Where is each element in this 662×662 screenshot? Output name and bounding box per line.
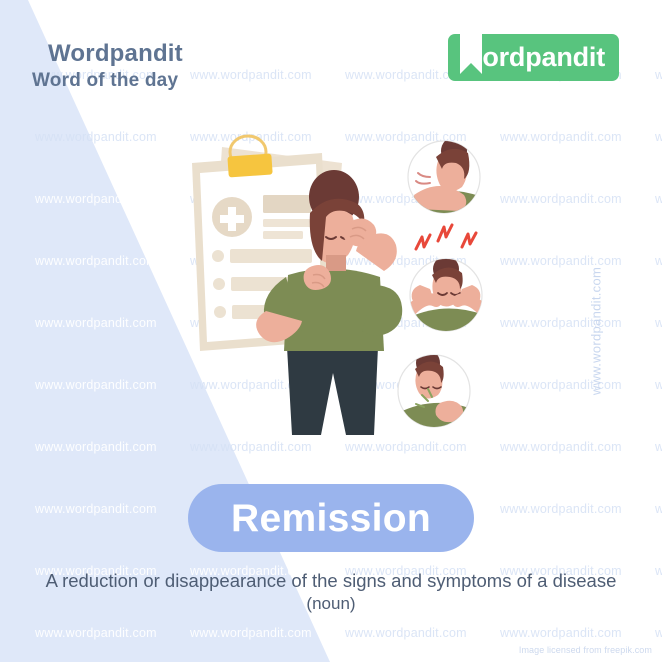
- watermark-text: www.wordpandit.com: [35, 626, 157, 640]
- word-pill: Remission: [188, 484, 474, 552]
- definition-text: A reduction or disappearance of the sign…: [0, 568, 662, 594]
- vertical-watermark: www.wordpandit.com: [588, 267, 603, 395]
- word-of-the-day-card: www.wordpandit.comwww.wordpandit.comwww.…: [0, 0, 662, 662]
- watermark-text: www.wordpandit.com: [35, 440, 157, 454]
- image-credit: Image licensed from freepik.com: [519, 645, 652, 655]
- itching-icon: [394, 350, 484, 439]
- illustration-remission: [170, 125, 500, 445]
- watermark-text: www.wordpandit.com: [35, 254, 157, 268]
- watermark-text: www.wordpandit.com: [35, 316, 157, 330]
- brand-title: Wordpandit: [48, 40, 183, 68]
- word-of-the-day: Remission: [231, 499, 431, 538]
- brand-subtitle: Word of the day: [32, 70, 178, 92]
- bookmark-icon: [460, 31, 482, 74]
- headache-icon: [406, 256, 484, 343]
- sneezing-icon: [404, 137, 482, 227]
- watermark-text: www.wordpandit.com: [35, 378, 157, 392]
- watermark-text: www.wordpandit.com: [35, 502, 157, 516]
- part-of-speech: (noun): [0, 594, 662, 614]
- watermark-text: www.wordpandit.com: [190, 626, 312, 640]
- logo-text: ordpandit: [482, 44, 605, 71]
- wordpandit-logo[interactable]: ordpandit: [448, 34, 619, 81]
- pain-marks-icon: [416, 225, 476, 249]
